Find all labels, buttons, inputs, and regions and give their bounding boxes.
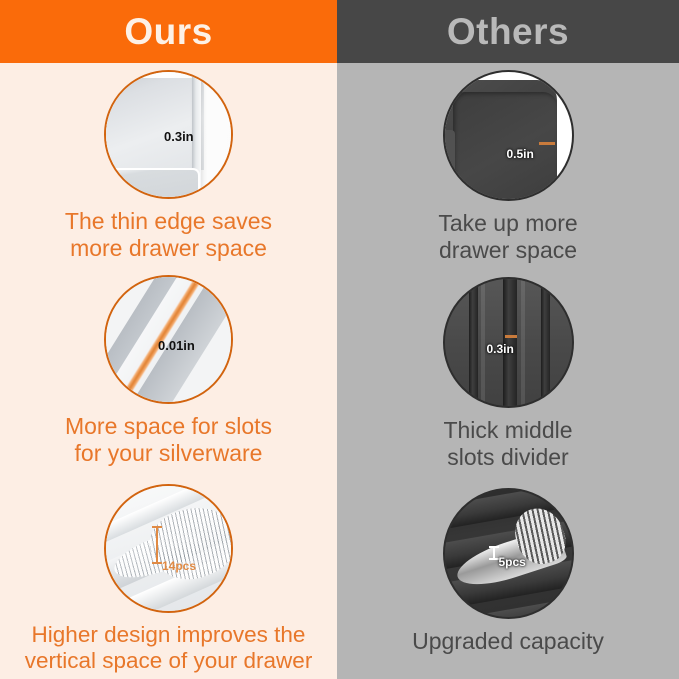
product-comparison-board: Ours 0.3in The thin edge saves more draw… (0, 0, 679, 679)
stacked-forks-photo: 14pcs (104, 484, 233, 613)
caption-others-2-line2: slots divider (443, 444, 572, 471)
dark-tray-inner-lip (453, 92, 557, 201)
caption-others-2-line1: Thick middle (443, 417, 572, 444)
stacked-forks-illustration (106, 486, 231, 611)
feature-ours-1: 0.3in The thin edge saves more drawer sp… (0, 63, 337, 262)
dark-tray-fork-photo: 5pcs (443, 488, 574, 619)
column-ours: Ours 0.3in The thin edge saves more draw… (0, 0, 337, 679)
caption-others-1-line2: drawer space (438, 237, 577, 264)
divider-highlight-2 (521, 277, 525, 408)
caption-ours-2-line2: for your silverware (65, 440, 272, 467)
dark-tray-fork-illustration (445, 490, 572, 617)
caption-others-1: Take up more drawer space (438, 210, 577, 264)
divider-bar-1 (469, 277, 478, 408)
caption-ours-1-line1: The thin edge saves (65, 208, 272, 235)
feature-ours-2: 0.01in More space for slots for your sil… (0, 262, 337, 467)
thick-slot-divider-photo: 0.3in (443, 277, 574, 408)
column-others-body: 0.5in Take up more drawer space (337, 63, 679, 679)
caption-ours-2-line1: More space for slots (65, 413, 272, 440)
feature-ours-3: 14pcs Higher design improves the vertica… (0, 468, 337, 675)
caption-ours-1-line2: more drawer space (65, 235, 272, 262)
feature-others-3: 5pcs Upgraded capacity (337, 472, 679, 655)
divider-bar-3 (541, 277, 550, 408)
measure-tick-others-1 (539, 142, 555, 145)
feature-others-1: 0.5in Take up more drawer space (337, 63, 679, 264)
thick-tray-edge-photo: 0.5in (443, 70, 574, 201)
caption-ours-3-line2: vertical space of your drawer (25, 648, 313, 675)
measure-tick-others-2 (505, 335, 517, 338)
caption-ours-3-line1: Higher design improves the (25, 622, 313, 649)
thick-tray-illustration (445, 72, 572, 199)
feature-others-2: 0.3in Thick middle slots divider (337, 264, 679, 471)
measure-label-others-1: 0.5in (507, 148, 534, 160)
caption-ours-3: Higher design improves the vertical spac… (25, 622, 313, 675)
thin-slot-divider-photo: 0.01in (104, 275, 233, 404)
measure-label-ours-2: 0.01in (158, 339, 195, 352)
thin-tray-edge-photo: 0.3in (104, 70, 233, 199)
capacity-measure-icon-others (493, 546, 495, 560)
caption-ours-1: The thin edge saves more drawer space (65, 208, 272, 262)
tray-shelf-shape (104, 168, 200, 199)
capacity-measure-icon (156, 526, 158, 564)
caption-others-2: Thick middle slots divider (443, 417, 572, 471)
divider-highlight-1 (481, 277, 485, 408)
header-ours: Ours (0, 0, 337, 63)
dark-tray-side-slot (443, 130, 455, 174)
caption-others-3: Upgraded capacity (412, 628, 604, 655)
measure-label-ours-1: 0.3in (164, 130, 194, 143)
column-others: Others 0.5in Take up more drawer space (337, 0, 679, 679)
measure-label-others-3: 5pcs (499, 556, 526, 568)
caption-others-3-line1: Upgraded capacity (412, 628, 604, 655)
caption-ours-2: More space for slots for your silverware (65, 413, 272, 467)
header-others-title: Others (447, 13, 569, 50)
caption-others-1-line1: Take up more (438, 210, 577, 237)
measure-label-ours-3: 14pcs (162, 560, 196, 572)
column-ours-body: 0.3in The thin edge saves more drawer sp… (0, 63, 337, 679)
measure-label-others-2: 0.3in (487, 343, 514, 355)
header-others: Others (337, 0, 679, 63)
header-ours-title: Ours (124, 13, 212, 50)
tray-body-shape (104, 78, 204, 170)
